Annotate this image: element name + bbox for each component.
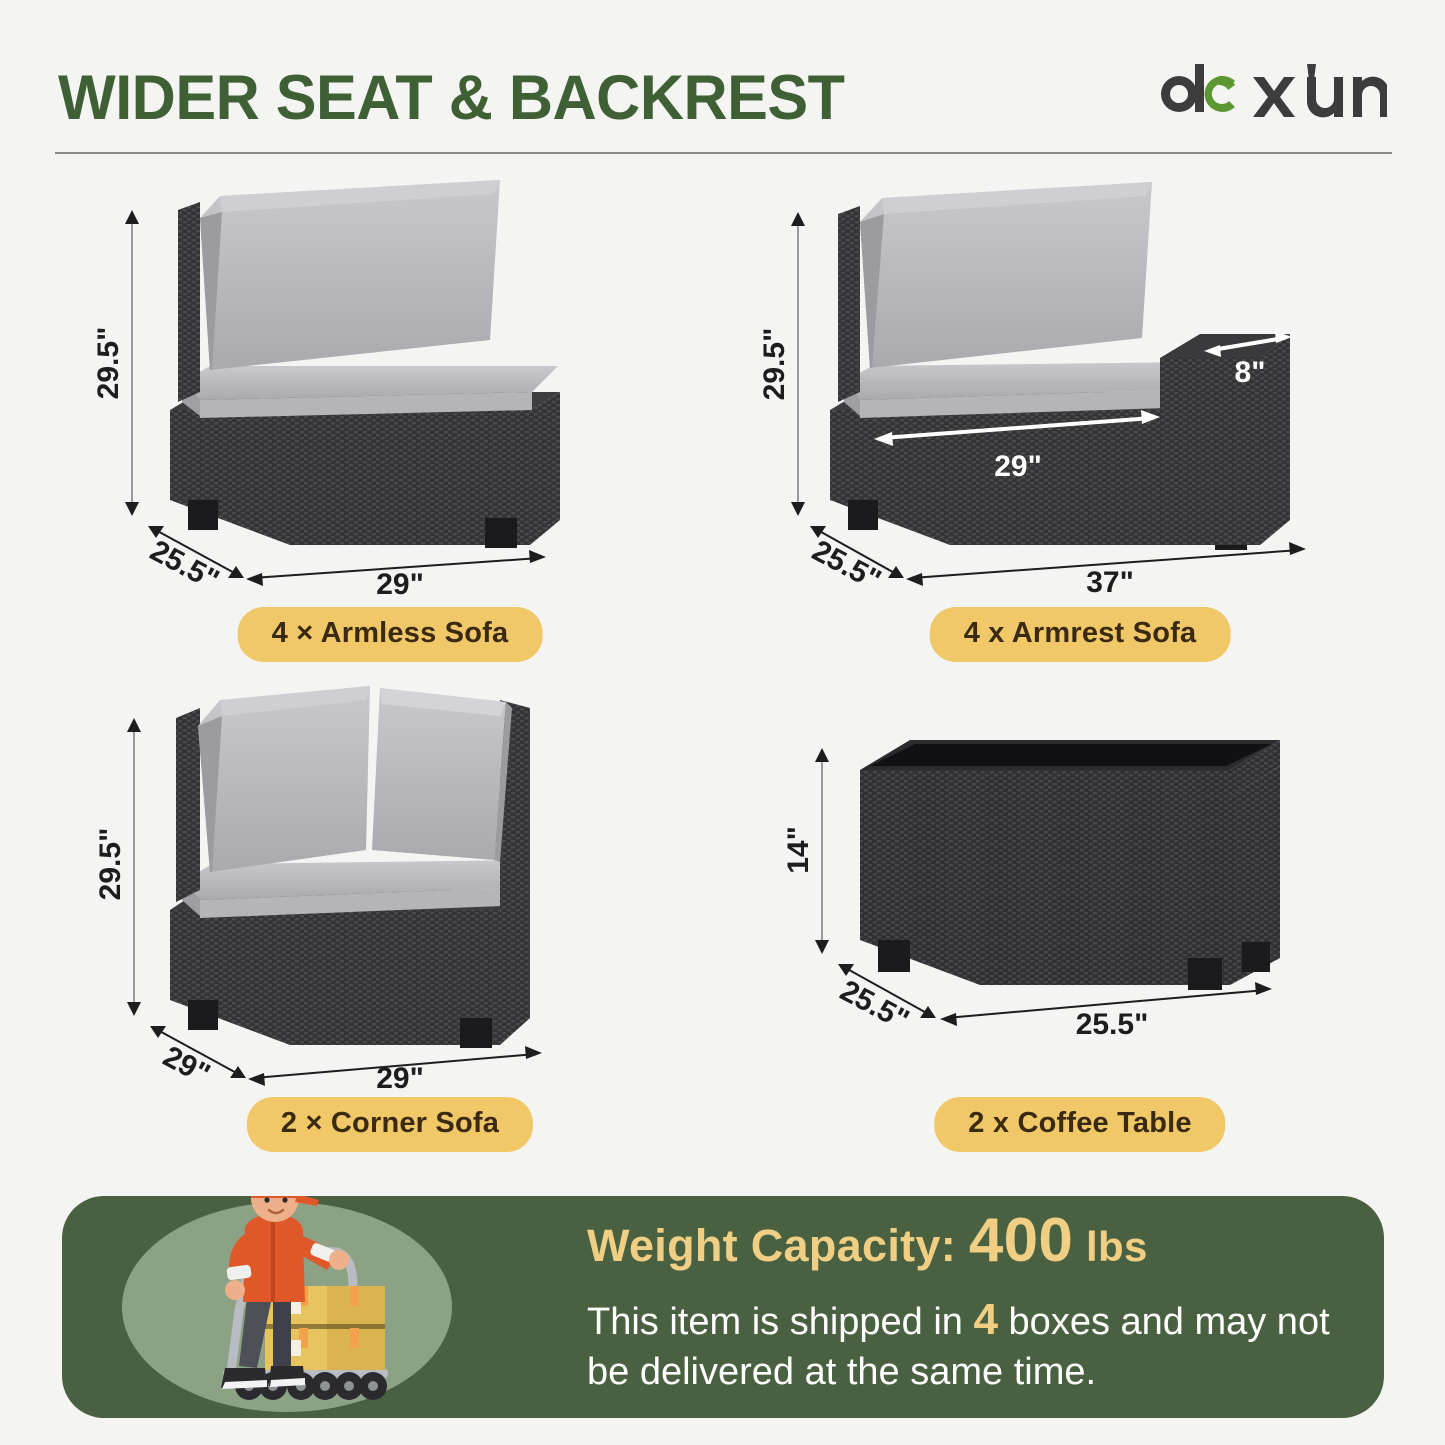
weight-capacity-label: Weight Capacity:	[587, 1220, 956, 1271]
product-grid: 29.5" 25.5" 29" 4 × Armless Sofa	[0, 160, 1445, 1180]
badge-coffee-table[interactable]: 2 x Coffee Table	[934, 1097, 1225, 1152]
page-title: WIDER SEAT & BACKREST	[58, 62, 845, 134]
dim-corner-depth: 29"	[158, 1040, 216, 1090]
armrest-sofa-illustration: 29.5" 25.5" 37" 29"	[760, 170, 1400, 600]
dim-armrest-seat-width: 29"	[994, 450, 1042, 483]
dim-armrest-depth: 25.5"	[807, 534, 887, 597]
shipping-banner: Weight Capacity: 400 lbs This item is sh…	[62, 1196, 1384, 1418]
product-item-corner-sofa: 29.5" 29" 29" 2 × Corner Sofa	[70, 660, 710, 1160]
aoxun-logo	[1157, 62, 1387, 124]
header: WIDER SEAT & BACKREST	[0, 0, 1445, 150]
armless-sofa-illustration: 29.5" 25.5" 29"	[70, 170, 710, 600]
dim-armless-depth: 25.5"	[145, 534, 225, 597]
dim-table-height: 14"	[782, 826, 815, 874]
corner-sofa-illustration: 29.5" 29" 29"	[70, 660, 710, 1090]
shipping-note-part1: This item is shipped in	[587, 1301, 963, 1343]
dim-armless-height: 29.5"	[92, 327, 125, 400]
product-item-coffee-table: 14" 25.5" 25.5" 2 x Coffee Table	[760, 660, 1400, 1160]
delivery-person-icon	[187, 1196, 457, 1418]
dim-corner-width: 29"	[376, 1062, 424, 1090]
dim-armrest-width: 37"	[1086, 566, 1134, 599]
dim-table-width: 25.5"	[1076, 1008, 1149, 1041]
dim-armrest-height: 29.5"	[760, 328, 791, 401]
shipping-box-count: 4	[974, 1295, 998, 1344]
product-item-armless-sofa: 29.5" 25.5" 29" 4 × Armless Sofa	[70, 170, 710, 670]
weight-capacity-value: 400	[969, 1206, 1073, 1275]
dim-armless-width: 29"	[376, 568, 424, 600]
dim-armrest-arm-width: 8"	[1235, 356, 1266, 389]
weight-capacity-line: Weight Capacity: 400 lbs	[587, 1210, 1148, 1272]
product-item-armrest-sofa: 29.5" 25.5" 37" 29"	[760, 170, 1400, 670]
header-divider	[55, 152, 1392, 154]
weight-capacity-unit: lbs	[1086, 1223, 1148, 1270]
coffee-table-illustration: 14" 25.5" 25.5"	[760, 660, 1400, 1090]
dim-corner-height: 29.5"	[94, 828, 127, 901]
shipping-note: This item is shipped in 4 boxes and may …	[587, 1292, 1377, 1397]
badge-corner-sofa[interactable]: 2 × Corner Sofa	[247, 1097, 533, 1152]
badge-armless-sofa[interactable]: 4 × Armless Sofa	[238, 607, 543, 662]
badge-armrest-sofa[interactable]: 4 x Armrest Sofa	[930, 607, 1231, 662]
